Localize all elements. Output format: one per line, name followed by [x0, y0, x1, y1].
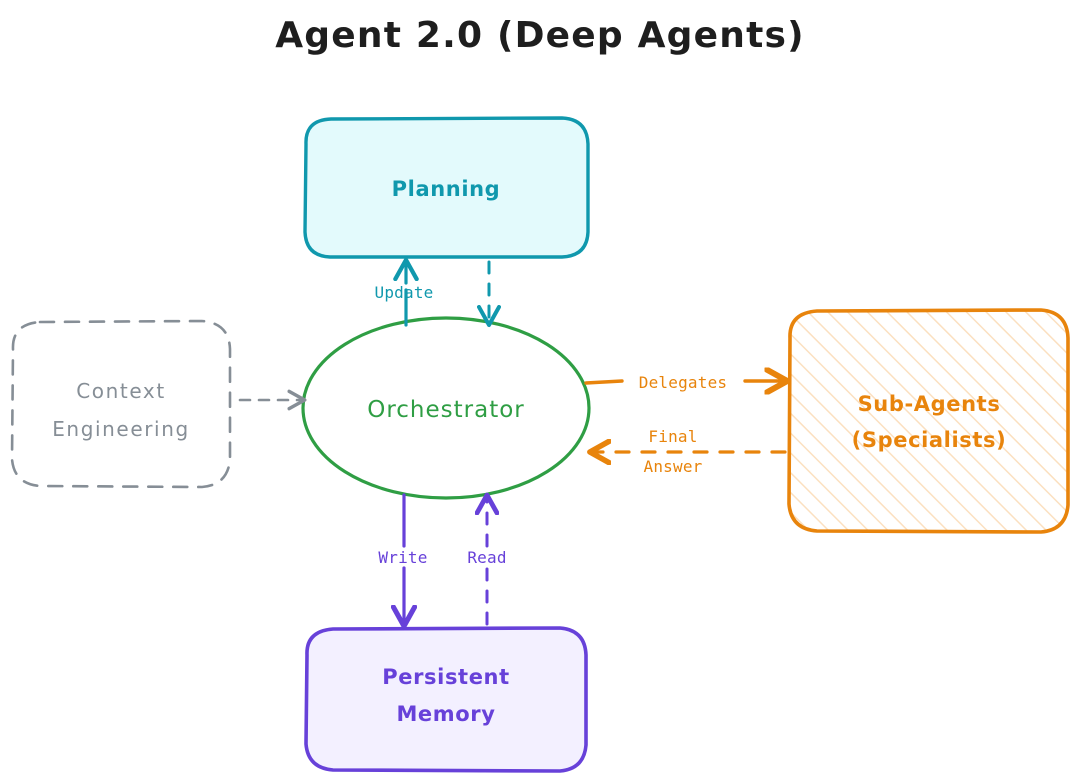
node-context-engineering[interactable]: Context Engineering [12, 321, 230, 487]
node-persistent-memory[interactable]: Persistent Memory [306, 628, 586, 771]
orchestrator-label: Orchestrator [367, 397, 525, 423]
edge-delegates[interactable]: Delegates [586, 373, 785, 392]
node-sub-agents[interactable]: Sub-Agents (Specialists) [789, 310, 1068, 532]
persistent-memory-label-line1: Persistent [382, 665, 509, 689]
read-edge-label: Read [467, 548, 506, 567]
sub-agents-box-shape [789, 310, 1068, 532]
context-engineering-label-line2: Engineering [52, 417, 190, 441]
node-orchestrator[interactable]: Orchestrator [303, 318, 589, 498]
agent-architecture-diagram: Agent 2.0 (Deep Agents) Planning Context… [0, 0, 1080, 777]
final-answer-edge-label-line1: Final [648, 427, 697, 446]
update-edge-label: Update [375, 283, 434, 302]
write-edge-label: Write [378, 548, 427, 567]
edge-read[interactable]: Read [467, 497, 506, 624]
context-engineering-box-shape [12, 321, 230, 487]
delegates-edge-left-segment [586, 381, 622, 383]
delegates-edge-label: Delegates [639, 373, 728, 392]
sub-agents-label-line2: (Specialists) [852, 428, 1007, 452]
context-engineering-label-line1: Context [76, 379, 166, 403]
final-answer-edge-label-line2: Answer [644, 457, 703, 476]
edge-update[interactable]: Update [375, 262, 434, 325]
diagram-canvas: Agent 2.0 (Deep Agents) Planning Context… [0, 0, 1080, 777]
page-title: Agent 2.0 (Deep Agents) [275, 15, 805, 56]
planning-label: Planning [392, 177, 501, 201]
persistent-memory-label-line2: Memory [396, 702, 495, 726]
sub-agents-label-line1: Sub-Agents [858, 392, 1001, 416]
edge-write[interactable]: Write [378, 495, 427, 624]
edge-final-answer[interactable]: Final Answer [592, 427, 785, 476]
persistent-memory-box-shape [306, 628, 586, 771]
node-planning[interactable]: Planning [305, 118, 588, 257]
